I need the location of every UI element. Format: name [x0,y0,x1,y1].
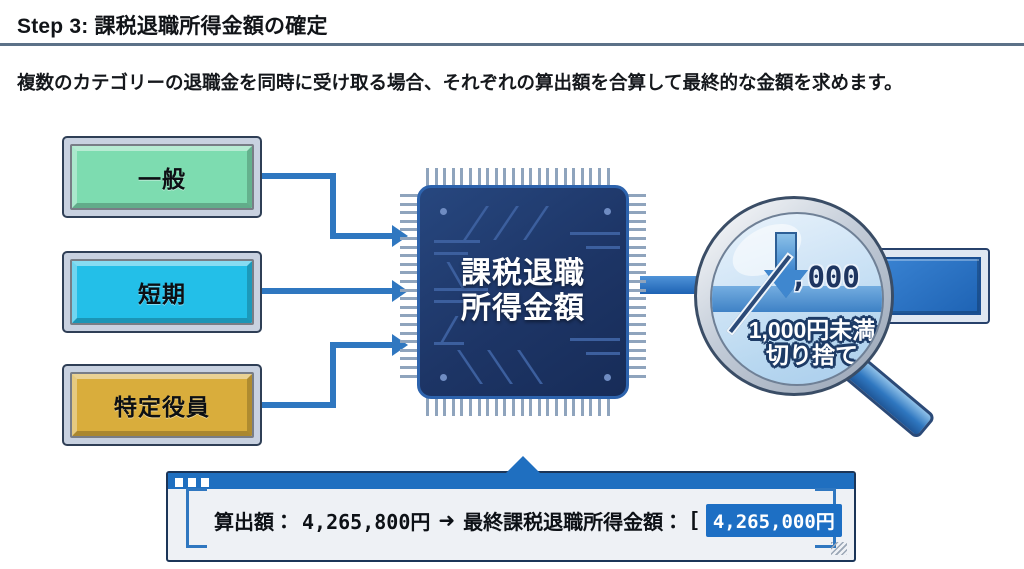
chip-pin [564,397,567,416]
bracket-open-icon [186,488,207,548]
chip-label-line1: 課税退職 [461,257,585,292]
caption-line1: 1,000円未満 [712,318,884,343]
box-inner-panel: 一般 [72,146,252,208]
slide-canvas: Step 3: 課税退職所得金額の確定 複数のカテゴリーの退職金を同時に受け取る… [0,0,1024,569]
result-window[interactable]: 算出額： 4,265,800円 ➜ 最終課税退職所得金額： [ 4,265,00… [166,471,856,562]
chip-pin [529,397,532,416]
chip-pin [627,340,646,343]
category-box-specific-officer[interactable]: 特定役員 [62,364,262,446]
chip-pin [627,306,646,309]
connector-officer-h1 [262,402,336,408]
chip-pin [598,397,601,416]
box-bevel: 短期 [70,259,254,325]
magnifier-ring: ,000 1,000円未満 切り捨て [694,196,894,396]
chip-pin [443,397,446,416]
chip-pin [435,397,438,416]
chip-pin [627,280,646,283]
connector-general-h2 [330,233,394,239]
result-window-pointer [506,456,540,473]
chip-pin [495,397,498,416]
cpu-chip: 課税退職 所得金額 [400,168,646,416]
header-divider [0,43,1024,46]
chip-pin [627,332,646,335]
result-expression: 算出額： 4,265,800円 ➜ 最終課税退職所得金額： [ 4,265,00… [214,499,808,541]
arrow-icon: ➜ [438,508,455,533]
chip-pin [627,263,646,266]
chip-pin [627,366,646,369]
chip-pin [512,397,515,416]
chip-pin [627,254,646,257]
final-value-highlight[interactable]: 4,265,000円 [706,504,842,537]
chip-label: 課税退職 所得金額 [420,188,626,396]
chip-pin [589,397,592,416]
resize-grip-icon[interactable] [831,542,847,555]
inner-bracket-open: [ [691,509,698,532]
chip-pin [627,357,646,360]
chip-pin [503,397,506,416]
box-inner-panel: 特定役員 [72,374,252,436]
chip-pin [469,397,472,416]
category-label: 特定役員 [114,388,210,422]
chip-pin [452,397,455,416]
chip-pin [627,220,646,223]
chip-pin [627,237,646,240]
chip-pin [426,397,429,416]
chip-pin [627,314,646,317]
chip-pin [555,397,558,416]
page-title: Step 3: 課税退職所得金額の確定 [17,10,328,40]
chip-pin [460,397,463,416]
chip-label-line2: 所得金額 [461,292,585,327]
chip-pin [627,194,646,197]
chip-pin [627,375,646,378]
chip-pin [486,397,489,416]
connector-general-h1 [262,173,336,179]
chip-pin [627,289,646,292]
box-bevel: 一般 [70,144,254,210]
chip-body: 課税退職 所得金額 [417,185,629,399]
connector-general-v [330,173,336,239]
category-label: 一般 [138,160,186,194]
chip-pin [627,349,646,352]
result-window-titlebar [168,473,854,489]
page-subtitle: 複数のカテゴリーの退職金を同時に受け取る場合、それぞれの算出額を合算して最終的な… [17,69,1007,95]
chip-pin [572,397,575,416]
chip-pin [478,397,481,416]
window-dots-icon [175,478,209,487]
category-box-short-term[interactable]: 短期 [62,251,262,333]
chip-pin [546,397,549,416]
connector-officer-v [330,342,336,408]
box-bevel: 特定役員 [70,372,254,438]
chip-pin [627,297,646,300]
category-label: 短期 [138,275,186,309]
calculated-label: 算出額： [214,506,294,535]
category-box-general[interactable]: 一般 [62,136,262,218]
chip-pin [538,397,541,416]
rounded-zeros-text: ,000 [790,260,860,294]
box-inner-panel: 短期 [72,261,252,323]
chip-pin [627,211,646,214]
calculated-value: 4,265,800円 [302,506,430,535]
chip-pin [607,397,610,416]
magnifier: ,000 1,000円未満 切り捨て [694,196,924,426]
chip-pin [627,323,646,326]
final-label: 最終課税退職所得金額： [463,506,683,535]
chip-pin [627,228,646,231]
chip-pin [581,397,584,416]
connector-short-h [262,288,394,294]
magnifier-caption: 1,000円未満 切り捨て [712,318,884,369]
magnifier-lens: ,000 1,000円未満 切り捨て [710,212,884,386]
chip-pin [627,271,646,274]
caption-line2: 切り捨て [712,343,884,368]
connector-officer-h2 [330,342,394,348]
chip-pin [627,203,646,206]
chip-pin [521,397,524,416]
chip-pin [627,246,646,249]
